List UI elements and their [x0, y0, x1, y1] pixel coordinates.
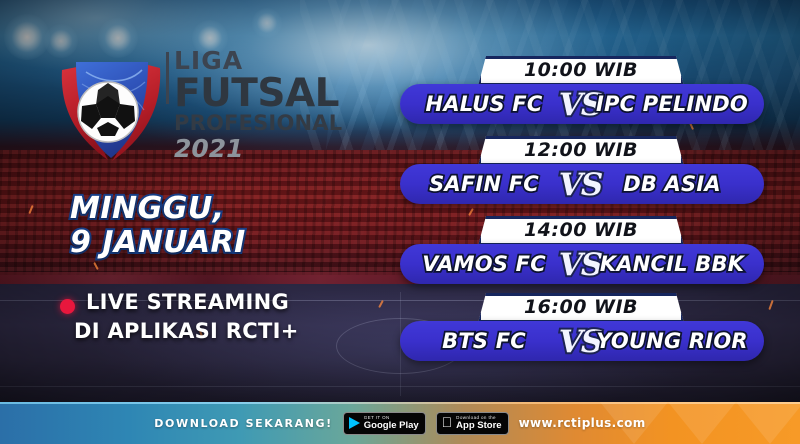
- home-team-name: HALUS FC: [408, 90, 560, 118]
- match-row: 10:00 WIB HALUS FC VS IPC PELINDO: [396, 56, 768, 136]
- download-label: DOWNLOAD SEKARANG!: [154, 417, 332, 430]
- logo-profesional-text: PROFESIONAL: [174, 113, 342, 134]
- match-team-bar: SAFIN FC VS DB ASIA: [400, 164, 764, 204]
- futsal-shield-ball-icon: [52, 44, 170, 166]
- away-team-name: DB ASIA: [588, 170, 756, 198]
- match-time: 12:00 WIB: [524, 141, 638, 161]
- streaming-info: LIVE STREAMING DI APLIKASI RCTI+: [60, 288, 400, 346]
- app-label: DI APLIKASI RCTI+: [74, 317, 400, 346]
- google-play-big-text: Google Play: [364, 421, 419, 431]
- google-play-button[interactable]: GET IT ON Google Play: [343, 412, 426, 435]
- away-team-name: YOUNG RIOR: [588, 327, 756, 355]
- match-row: 12:00 WIB SAFIN FC VS DB ASIA: [396, 136, 768, 216]
- logo-year-text: 2021: [174, 136, 342, 161]
- match-time: 16:00 WIB: [524, 298, 638, 318]
- google-play-icon: [349, 417, 360, 429]
- apple-icon: : [442, 415, 453, 429]
- website-url[interactable]: www.rctiplus.com: [519, 416, 646, 430]
- date-date-label: 9 JANUARI: [70, 226, 370, 260]
- league-logo: LIGA FUTSAL PROFESIONAL 2021: [52, 44, 342, 166]
- match-row: 16:00 WIB BTS FC VS YOUNG RIOR: [396, 293, 768, 373]
- match-time: 14:00 WIB: [524, 221, 638, 241]
- away-team-name: IPC PELINDO: [588, 90, 756, 118]
- league-wordmark: LIGA FUTSAL PROFESIONAL 2021: [174, 48, 342, 161]
- app-store-big-text: App Store: [456, 421, 501, 431]
- match-team-bar: VAMOS FC VS KANCIL BBK: [400, 244, 764, 284]
- live-streaming-label: LIVE STREAMING: [86, 288, 400, 317]
- home-team-name: BTS FC: [408, 327, 560, 355]
- app-store-button[interactable]:  Download on the App Store: [436, 412, 509, 435]
- match-time: 10:00 WIB: [524, 61, 638, 81]
- logo-futsal-text: FUTSAL: [174, 75, 342, 112]
- away-team-name: KANCIL BBK: [588, 250, 756, 278]
- logo-liga-text: LIGA: [174, 48, 342, 73]
- match-team-bar: HALUS FC VS IPC PELINDO: [400, 84, 764, 124]
- footer-bar: DOWNLOAD SEKARANG! GET IT ON Google Play…: [0, 402, 800, 444]
- live-red-dot-icon: [60, 299, 75, 314]
- event-date: MINGGU, 9 JANUARI: [70, 192, 370, 259]
- match-team-bar: BTS FC VS YOUNG RIOR: [400, 321, 764, 361]
- home-team-name: VAMOS FC: [408, 250, 560, 278]
- match-row: 14:00 WIB VAMOS FC VS KANCIL BBK: [396, 216, 768, 296]
- date-day-label: MINGGU,: [70, 192, 370, 226]
- logo-divider: [166, 52, 169, 104]
- home-team-name: SAFIN FC: [408, 170, 560, 198]
- futsal-schedule-poster: LIGA FUTSAL PROFESIONAL 2021 MINGGU, 9 J…: [0, 0, 800, 444]
